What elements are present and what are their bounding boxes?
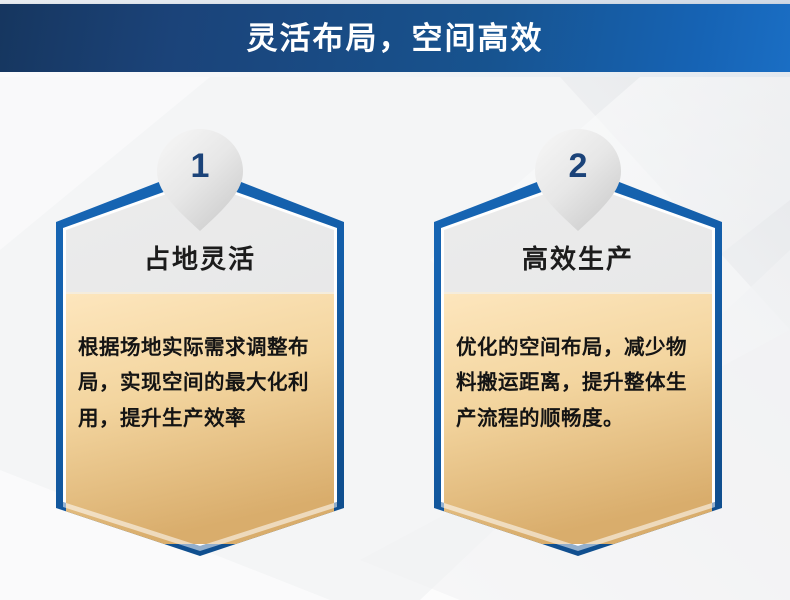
card-1-number-pin[interactable]: 1 <box>155 127 245 233</box>
feature-card-2[interactable]: 高效生产 优化的空间布局，减少物料搬运距离，提升整体生产流程的顺畅度。 <box>430 208 726 560</box>
header-bar: 灵活布局，空间高效 <box>0 4 790 72</box>
page-title: 灵活布局，空间高效 <box>247 23 544 54</box>
header-bottom-edge <box>0 72 790 77</box>
card-2-number-pin[interactable]: 2 <box>533 127 623 233</box>
slide-canvas: 灵活布局，空间高效 <box>0 0 790 600</box>
card-1-body: 根据场地实际需求调整布局，实现空间的最大化利用，提升生产效率 <box>78 330 322 436</box>
card-2-body: 优化的空间布局，减少物料搬运距离，提升整体生产流程的顺畅度。 <box>456 330 700 436</box>
card-1-number: 1 <box>155 149 245 183</box>
card-2-number: 2 <box>533 149 623 183</box>
feature-card-1[interactable]: 占地灵活 根据场地实际需求调整布局，实现空间的最大化利用，提升生产效率 <box>52 208 348 560</box>
card-1-title: 占地灵活 <box>52 244 348 275</box>
card-2-title: 高效生产 <box>430 244 726 275</box>
